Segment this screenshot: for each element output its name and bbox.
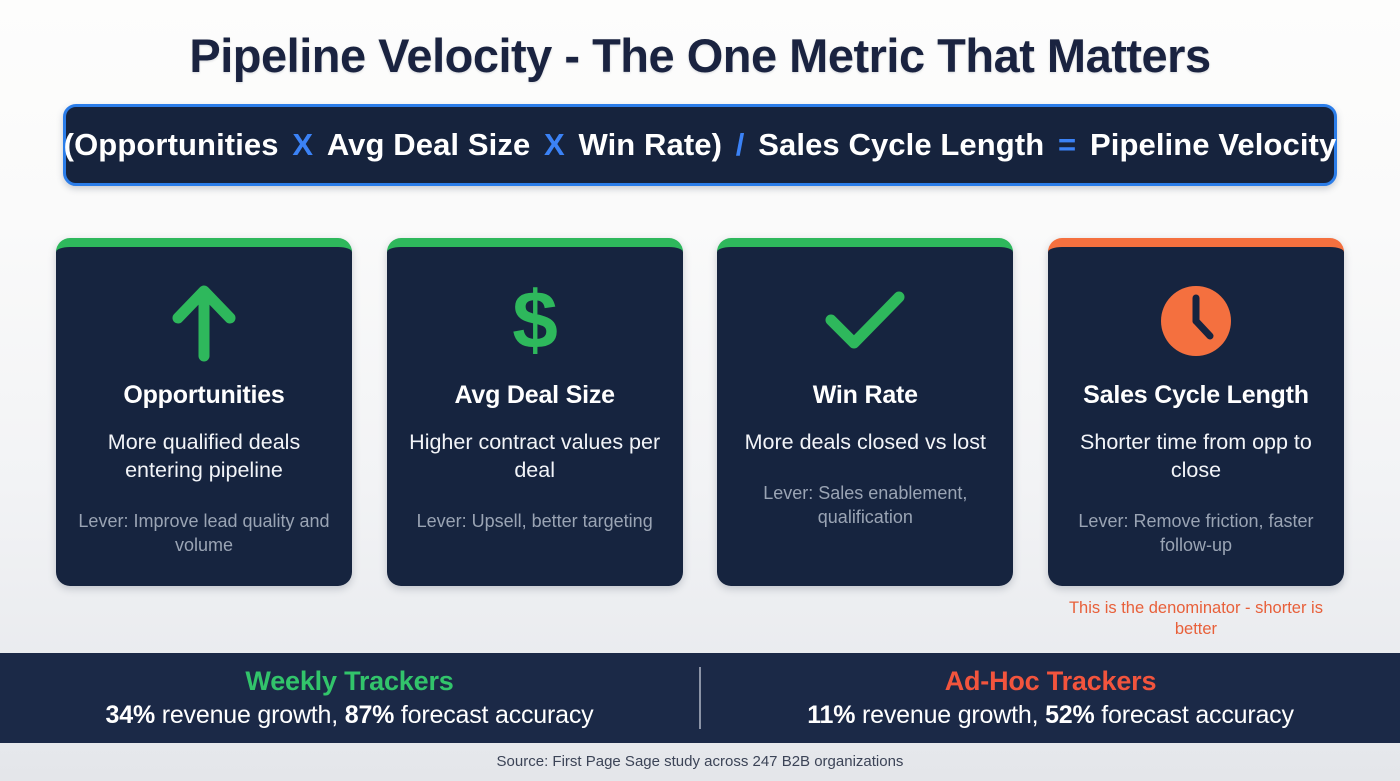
formula-bar: (Opportunities X Avg Deal Size X Win Rat… xyxy=(63,104,1337,186)
footer-stats-adhoc: 11% revenue growth, 52% forecast accurac… xyxy=(719,701,1382,730)
card-lever: Lever: Remove friction, faster follow-up xyxy=(1048,509,1344,558)
arrow-up-icon xyxy=(169,273,239,369)
denominator-note: This is the denominator - shorter is bet… xyxy=(1048,598,1344,641)
comparison-footer-bar: Weekly Trackers 34% revenue growth, 87% … xyxy=(0,653,1400,743)
card-body[interactable]: Opportunities More qualified deals enter… xyxy=(56,238,352,586)
formula-expression: (Opportunities X Avg Deal Size X Win Rat… xyxy=(63,127,1338,163)
footer-adhoc-trackers: Ad-Hoc Trackers 11% revenue growth, 52% … xyxy=(701,666,1400,730)
adhoc-revenue-growth-value: 11% xyxy=(807,701,855,729)
metric-card-opportunities: Opportunities More qualified deals enter… xyxy=(56,238,352,641)
adhoc-forecast-accuracy-label: forecast accuracy xyxy=(1095,701,1294,729)
card-title: Win Rate xyxy=(813,381,918,410)
card-description: More deals closed vs lost xyxy=(731,429,1000,457)
footer-stats-weekly: 34% revenue growth, 87% forecast accurac… xyxy=(18,701,681,730)
weekly-revenue-growth-value: 34% xyxy=(106,701,155,729)
weekly-forecast-accuracy-label: forecast accuracy xyxy=(394,701,593,729)
adhoc-forecast-accuracy-value: 52% xyxy=(1045,701,1094,729)
footer-weekly-trackers: Weekly Trackers 34% revenue growth, 87% … xyxy=(0,666,699,730)
card-title: Opportunities xyxy=(123,381,284,410)
card-lever: Lever: Sales enablement, qualification xyxy=(717,481,1013,530)
weekly-forecast-accuracy-value: 87% xyxy=(345,701,394,729)
formula-sales-cycle-length: Sales Cycle Length xyxy=(757,127,1045,162)
metric-card-avg-deal-size: $ Avg Deal Size Higher contract values p… xyxy=(387,238,683,641)
metric-card-win-rate: Win Rate More deals closed vs lost Lever… xyxy=(717,238,1013,641)
footer-heading-adhoc: Ad-Hoc Trackers xyxy=(719,666,1382,697)
equals-operator: = xyxy=(1054,127,1080,162)
card-body[interactable]: $ Avg Deal Size Higher contract values p… xyxy=(387,238,683,586)
formula-opportunities: (Opportunities xyxy=(63,127,280,162)
formula-win-rate: Win Rate) xyxy=(578,127,724,162)
footer-heading-weekly: Weekly Trackers xyxy=(18,666,681,697)
multiply-operator-1: X xyxy=(288,127,317,162)
card-description: Shorter time from opp to close xyxy=(1048,429,1344,485)
card-body[interactable]: Win Rate More deals closed vs lost Lever… xyxy=(717,238,1013,586)
clock-icon xyxy=(1159,273,1233,369)
divide-operator: / xyxy=(732,127,749,162)
card-body[interactable]: Sales Cycle Length Shorter time from opp… xyxy=(1048,238,1344,586)
check-mark-icon xyxy=(823,273,907,369)
card-description: Higher contract values per deal xyxy=(387,429,683,485)
weekly-revenue-growth-label: revenue growth, xyxy=(155,701,345,729)
metric-card-sales-cycle-length: Sales Cycle Length Shorter time from opp… xyxy=(1048,238,1344,641)
metric-cards-row: Opportunities More qualified deals enter… xyxy=(56,238,1344,641)
adhoc-revenue-growth-label: revenue growth, xyxy=(855,701,1045,729)
card-description: More qualified deals entering pipeline xyxy=(56,429,352,485)
page-title: Pipeline Velocity - The One Metric That … xyxy=(0,0,1400,80)
dollar-sign-icon: $ xyxy=(500,273,570,369)
card-lever: Lever: Upsell, better targeting xyxy=(401,509,669,533)
formula-pipeline-velocity: Pipeline Velocity xyxy=(1089,127,1337,162)
source-attribution: Source: First Page Sage study across 247… xyxy=(0,753,1400,770)
formula-avg-deal-size: Avg Deal Size xyxy=(326,127,531,162)
card-title: Avg Deal Size xyxy=(454,381,614,410)
card-lever: Lever: Improve lead quality and volume xyxy=(56,509,352,558)
card-title: Sales Cycle Length xyxy=(1083,381,1309,410)
svg-text:$: $ xyxy=(512,278,558,364)
multiply-operator-2: X xyxy=(540,127,569,162)
